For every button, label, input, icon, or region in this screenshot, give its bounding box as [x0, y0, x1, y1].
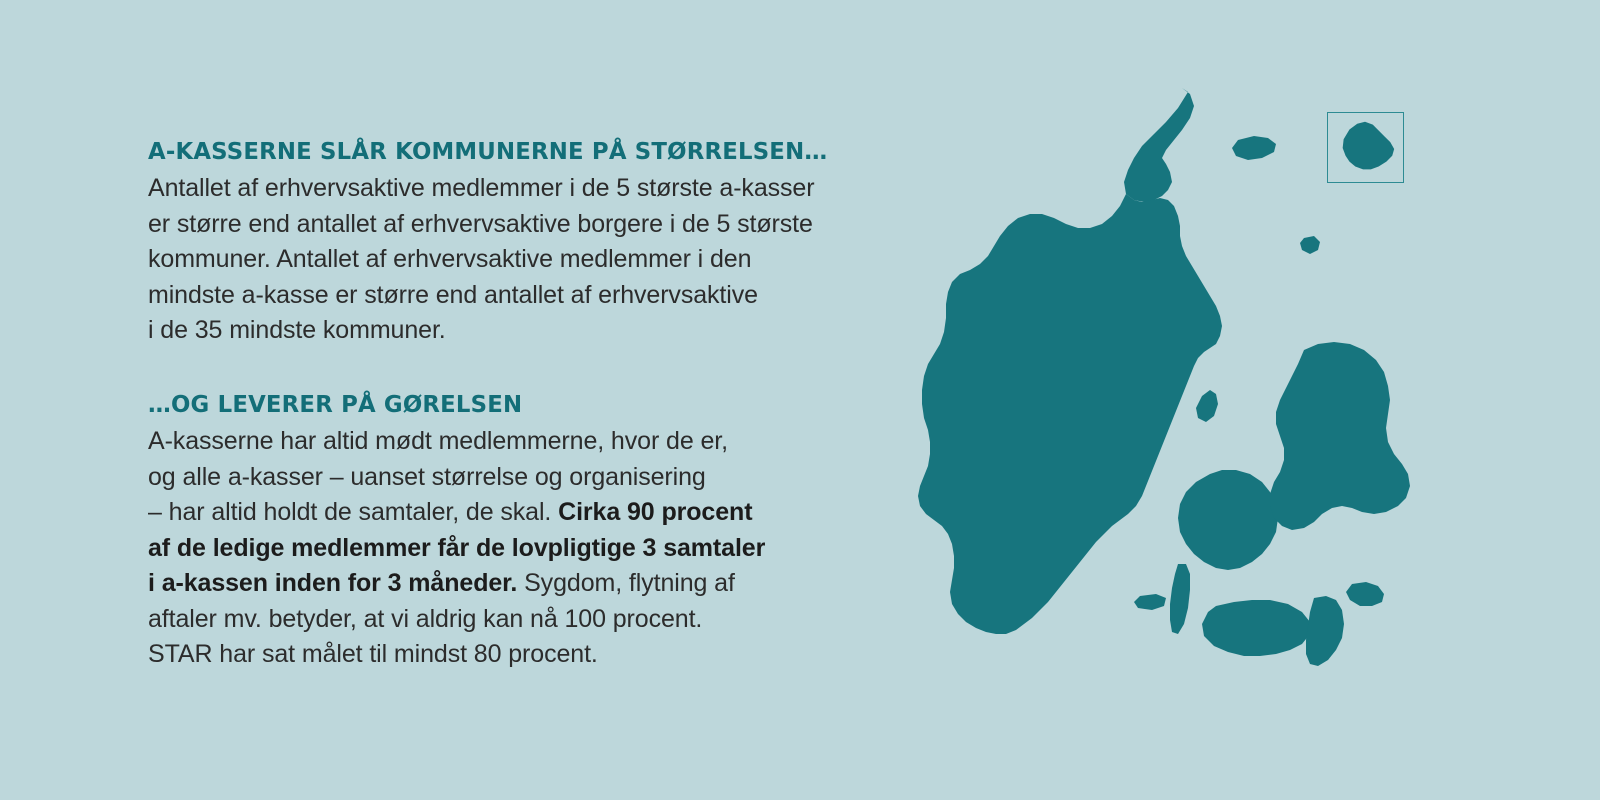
- paragraph-1-line: er større end antallet af erhvervsaktive…: [148, 207, 908, 243]
- paragraph-1-line: mindste a-kasse er større end antallet a…: [148, 278, 908, 314]
- paragraph-2-line: i a-kassen inden for 3 måneder. Sygdom, …: [148, 566, 908, 602]
- paragraph-1-line: kommuner. Antallet af erhvervsaktive med…: [148, 242, 908, 278]
- heading-2: …OG LEVERER PÅ GØRELSEN: [148, 391, 885, 417]
- paragraph-2-line: STAR har sat målet til mindst 80 procent…: [148, 637, 908, 673]
- map-region-bornholm: [1343, 122, 1395, 170]
- emphasis-fragment: i a-kassen inden for 3 måneder.: [148, 569, 517, 597]
- emphasis-fragment: af de ledige medlemmer får de lovpligtig…: [148, 534, 765, 562]
- paragraph-2-text: – har altid holdt de samtaler, de skal.: [148, 498, 558, 526]
- paragraph-2-line: aftaler mv. betyder, at vi aldrig kan nå…: [148, 602, 908, 638]
- bornholm-inset-box: [1327, 112, 1404, 183]
- text-column: A-KASSERNE SLÅR KOMMUNERNE PÅ STØRRELSEN…: [148, 138, 908, 673]
- text-block-2: …OG LEVERER PÅ GØRELSEN A-kasserne har a…: [148, 391, 908, 673]
- paragraph-2-text: Sygdom, flytning af: [517, 569, 735, 597]
- emphasis-fragment: Cirka 90 procent: [558, 498, 752, 526]
- heading-1: A-KASSERNE SLÅR KOMMUNERNE PÅ STØRRELSEN…: [148, 138, 885, 164]
- map-region-lolland: [1202, 600, 1310, 656]
- paragraph-1: Antallet af erhvervsaktive medlemmer i d…: [148, 171, 908, 349]
- paragraph-2-line: – har altid holdt de samtaler, de skal. …: [148, 495, 908, 531]
- paragraph-2-line: af de ledige medlemmer får de lovpligtig…: [148, 531, 908, 567]
- text-block-1: A-KASSERNE SLÅR KOMMUNERNE PÅ STØRRELSEN…: [148, 138, 908, 349]
- paragraph-2-line: og alle a-kasser – uanset størrelse og o…: [148, 460, 908, 496]
- paragraph-2: A-kasserne har altid mødt medlemmerne, h…: [148, 424, 908, 673]
- paragraph-2-line: A-kasserne har altid mødt medlemmerne, h…: [148, 424, 908, 460]
- paragraph-1-line: i de 35 mindste kommuner.: [148, 313, 908, 349]
- paragraph-1-line: Antallet af erhvervsaktive medlemmer i d…: [148, 171, 908, 207]
- infographic-canvas: A-KASSERNE SLÅR KOMMUNERNE PÅ STØRRELSEN…: [0, 0, 1600, 800]
